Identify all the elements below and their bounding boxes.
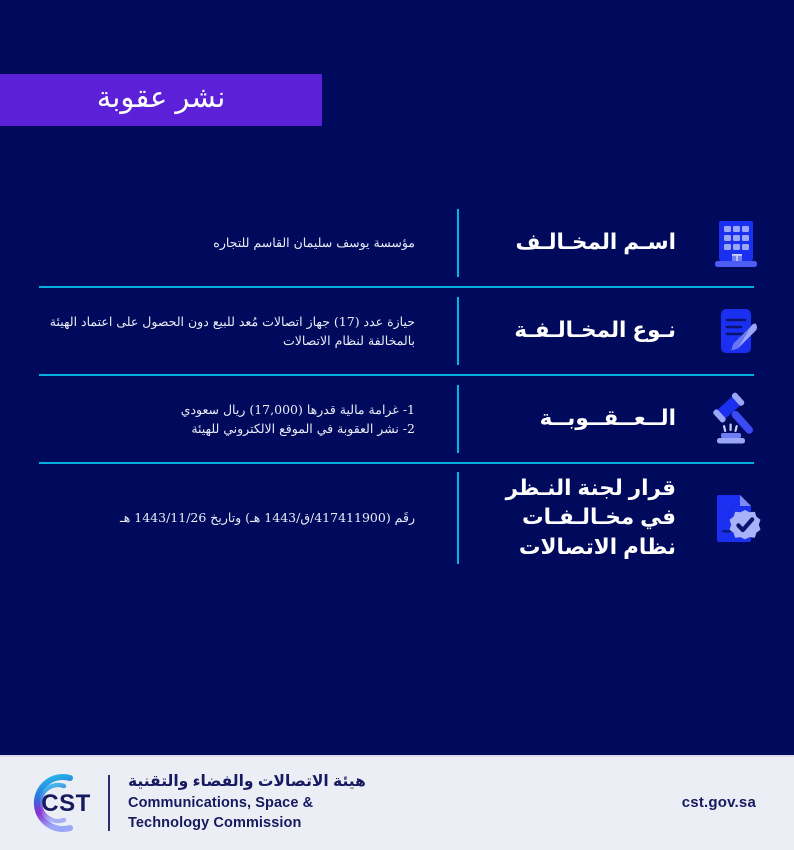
row-separator bbox=[445, 288, 471, 374]
table-row: اسـم المخـالـف مؤسسة يوسف سليمان القاسم … bbox=[0, 200, 794, 286]
header-band: نشر عقوبة bbox=[0, 74, 794, 126]
footer: CST هيئة الاتصالات والفضاء والتقنية Comm… bbox=[0, 755, 794, 850]
table-row: الــعــقــوبــة 1- غرامة مالية قدرها (17… bbox=[0, 376, 794, 462]
footer-divider bbox=[0, 755, 794, 757]
row-separator bbox=[445, 200, 471, 286]
org-name-ar: هيئة الاتصالات والفضاء والتقنية bbox=[128, 772, 366, 793]
building-icon bbox=[676, 213, 794, 273]
org-name-block: هيئة الاتصالات والفضاء والتقنية Communic… bbox=[128, 772, 366, 833]
row-separator bbox=[445, 464, 471, 572]
details-table: اسـم المخـالـف مؤسسة يوسف سليمان القاسم … bbox=[0, 200, 794, 572]
page-title: نشر عقوبة bbox=[97, 84, 226, 116]
row-value-line: بالمخالفة لنظام الاتصالات bbox=[50, 331, 415, 350]
org-name-en-line2: Technology Commission bbox=[128, 814, 366, 833]
row-value: مؤسسة يوسف سليمان القاسم للتجاره bbox=[0, 233, 445, 252]
cst-logo: CST هيئة الاتصالات والفضاء والتقنية Comm… bbox=[0, 770, 366, 836]
row-label: نـوع المخـالـفـة bbox=[471, 316, 676, 346]
row-label: اسـم المخـالـف bbox=[471, 228, 676, 258]
row-value-line: مؤسسة يوسف سليمان القاسم للتجاره bbox=[213, 233, 415, 252]
row-separator bbox=[445, 376, 471, 462]
svg-text:CST: CST bbox=[41, 790, 91, 817]
table-row: نـوع المخـالـفـة حيازة عدد (17) جهاز اتص… bbox=[0, 288, 794, 374]
table-row: قرار لجنة النـظر في مخـالـفـات نظام الات… bbox=[0, 464, 794, 572]
row-value: رقَم (417411900/ق/1443 هـ) وتاريخ 1443/1… bbox=[0, 508, 445, 527]
header-banner: نشر عقوبة bbox=[0, 74, 322, 126]
cst-logo-mark: CST bbox=[30, 770, 100, 836]
row-value-line: رقَم (417411900/ق/1443 هـ) وتاريخ 1443/1… bbox=[120, 508, 415, 527]
row-label: الــعــقــوبــة bbox=[471, 404, 676, 434]
row-label: قرار لجنة النـظر في مخـالـفـات نظام الات… bbox=[471, 474, 676, 563]
gavel-icon bbox=[676, 389, 794, 449]
row-value: 1- غرامة مالية قدرها (17,000) ريال سعودي… bbox=[0, 400, 445, 439]
row-value-line: 1- غرامة مالية قدرها (17,000) ريال سعودي bbox=[181, 400, 415, 419]
website-url[interactable]: cst.gov.sa bbox=[682, 794, 794, 811]
row-value-line: 2- نشر العقوبة في الموقع الالكتروني للهي… bbox=[181, 419, 415, 438]
row-value: حيازة عدد (17) جهاز اتصالات مُعد للبيع د… bbox=[0, 312, 445, 351]
logo-divider bbox=[108, 775, 110, 831]
document-pencil-icon bbox=[676, 301, 794, 361]
penalty-publication-poster: نشر عقوبة bbox=[0, 0, 794, 850]
org-name-en-line1: Communications, Space & bbox=[128, 794, 366, 813]
row-value-line: حيازة عدد (17) جهاز اتصالات مُعد للبيع د… bbox=[50, 312, 415, 331]
verified-document-icon bbox=[676, 487, 794, 549]
